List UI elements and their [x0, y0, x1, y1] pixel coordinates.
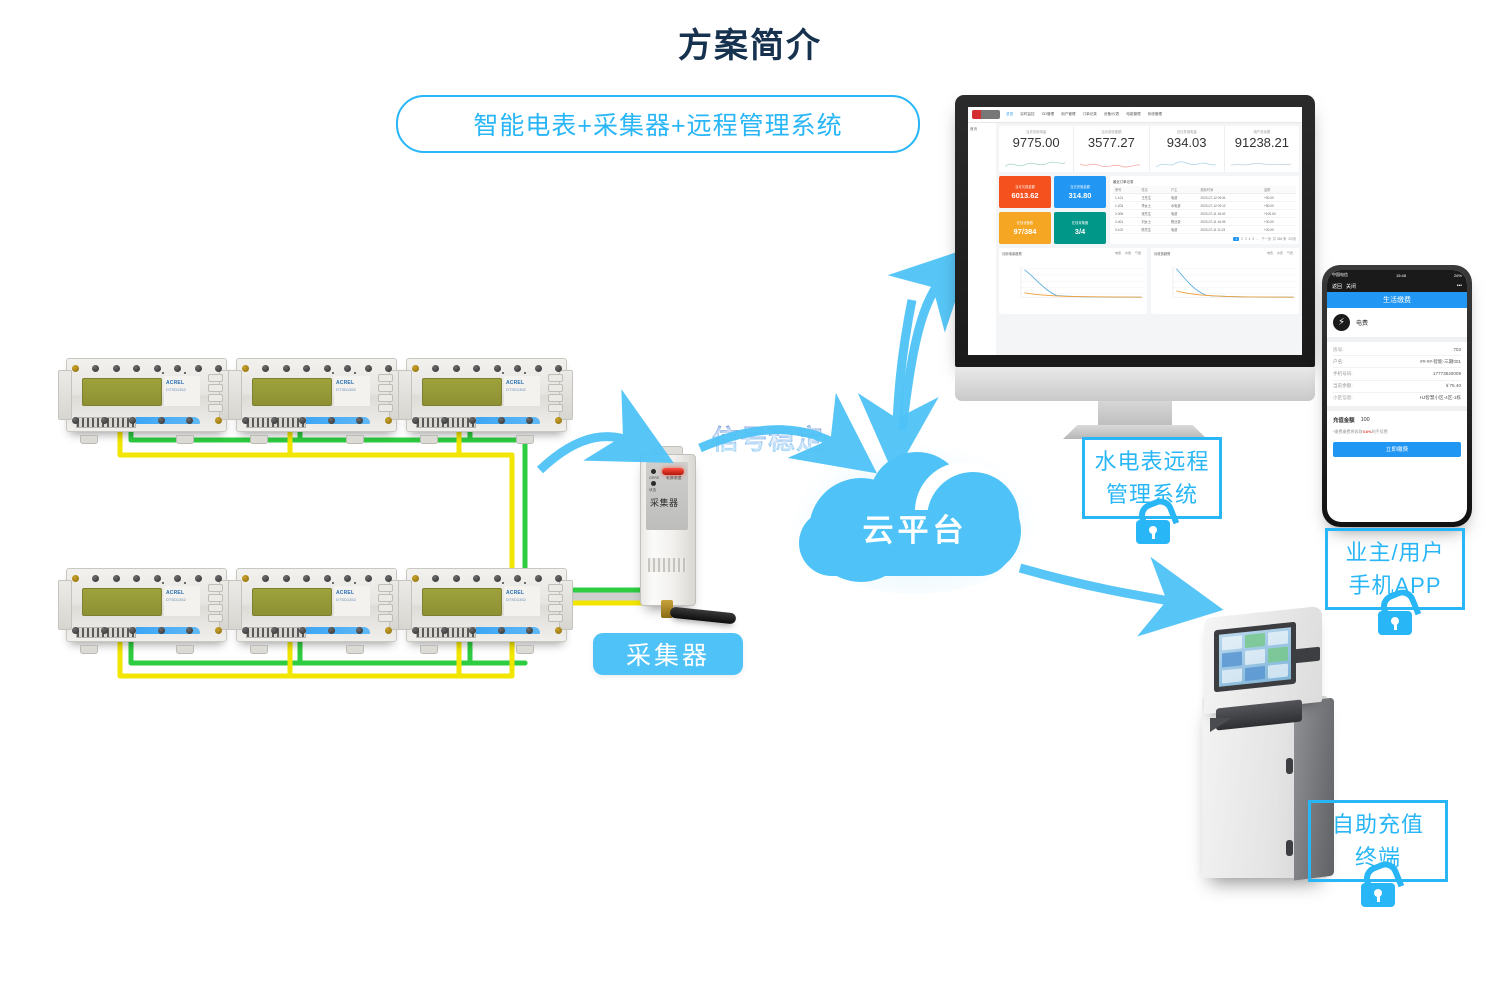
table-row[interactable]: 2-305 张先生 电费 2023-07-11 18:42 +100.00	[1113, 210, 1296, 218]
mobile-phone: 中国电信 15:48 26% 返回 关闭 ••• 生活缴费 ⚡ 电费 房号: 7…	[1322, 265, 1472, 527]
callout-line-1: 水电表远程	[1094, 445, 1209, 478]
callout-line-1: 自助充值	[1332, 808, 1424, 841]
cell: 2023-07-11 18:42	[1198, 210, 1261, 218]
cell: 电费	[1169, 210, 1199, 218]
info-row: 当前余额: ￥75.40	[1333, 381, 1461, 393]
amount-label: 充值金额	[1333, 416, 1355, 424]
tile-value: 6013.62	[1011, 191, 1038, 200]
phone-screen: 中国电信 15:48 26% 返回 关闭 ••• 生活缴费 ⚡ 电费 房号: 7…	[1327, 270, 1467, 522]
stat-tiles: 当月欠费金额 6013.62 当日充值金额 314.80 在线设备数 97/38…	[999, 176, 1107, 244]
kpi-value: 3577.27	[1088, 135, 1135, 150]
info-value: ##-##-智能-三期001	[1420, 359, 1461, 365]
nav-item[interactable]: 用户管理	[1061, 112, 1075, 117]
page-link[interactable]: 4	[1249, 237, 1251, 241]
legend-entry: 电费	[1267, 251, 1273, 255]
cell: +80.00	[1262, 202, 1296, 210]
info-row: 小区信息: HJ智慧小区-4区-1栋	[1333, 393, 1461, 404]
kiosk-handle	[1286, 758, 1293, 774]
smart-meter: ACREL DTSD1352	[58, 348, 233, 440]
cell: 2-305	[1113, 210, 1139, 218]
close-button[interactable]: 关闭	[1346, 283, 1356, 290]
table-row[interactable]: 3-102 陈先生 电费 2023-07-11 11:23 +20.00	[1113, 226, 1296, 234]
collector-label-pill: 采集器	[593, 633, 743, 675]
kpi-card: 当月总用电量 9775.00	[999, 126, 1074, 172]
kpi-value: 9775.00	[1013, 135, 1060, 150]
tile-label: 当日充值金额	[1070, 184, 1090, 189]
back-button[interactable]: 返回	[1332, 283, 1342, 290]
page-link[interactable]: 3	[1245, 237, 1247, 241]
account-info-list: 房号: 703 户名: ##-##-智能-三期001 手机号码: 1777384…	[1327, 342, 1467, 411]
info-label: 当前余额:	[1333, 383, 1353, 389]
cell: 陈先生	[1139, 226, 1169, 234]
stat-tile[interactable]: 当日充值金额 314.80	[1054, 176, 1106, 208]
info-value: 17773840009	[1433, 371, 1461, 377]
table-column-header: 姓名	[1139, 186, 1169, 194]
info-label: 手机号码:	[1333, 371, 1353, 377]
fee-note: *缴费缴费将收取0.6%的手续费	[1327, 429, 1467, 440]
cell: 1-203	[1113, 202, 1139, 210]
brand-logo-icon	[972, 110, 1000, 119]
meter-brand: ACREL	[336, 380, 354, 386]
table-header-row: 房号 姓名 户主 缴费时间 金额	[1113, 186, 1296, 194]
revenue-chart: 月收费趋势 电费 水费 气费	[1151, 248, 1299, 314]
kpi-value: 91238.21	[1235, 135, 1289, 150]
info-row: 户名: ##-##-智能-三期001	[1333, 356, 1461, 368]
cell: +30.00	[1262, 218, 1296, 226]
meter-brand: ACREL	[506, 590, 524, 596]
legend-entry: 气量	[1135, 251, 1141, 255]
pay-now-button[interactable]: 立即缴费	[1333, 442, 1461, 457]
subtitle-pill: 智能电表+采集器+远程管理系统	[396, 95, 920, 153]
desktop-monitor: 总览 实时监控 OD管理 用户管理 订单记录 设备/仪表 电能管理 系统管理 首…	[955, 95, 1315, 395]
collector-mini-label-3: 状态	[649, 488, 656, 493]
page-size[interactable]: 20/页	[1288, 236, 1296, 241]
phone-status-bar: 中国电信 15:48 26%	[1327, 270, 1467, 280]
orders-table: 最近订单记录 房号 姓名 户主 缴费时间 金额	[1110, 176, 1299, 244]
nav-item[interactable]: 订单记录	[1083, 112, 1097, 117]
stat-tile[interactable]: 在线采集器 3/4	[1054, 212, 1106, 244]
cell: 水电费	[1169, 202, 1199, 210]
table-row[interactable]: 1-203 李女士 水电费 2023-07-12 09:12 +80.00	[1113, 202, 1296, 210]
table-title: 最近订单记录	[1113, 179, 1296, 184]
callout-line-1: 业主/用户	[1345, 536, 1444, 569]
table-column-header: 户主	[1169, 186, 1199, 194]
sparkline	[1231, 158, 1291, 170]
nav-item[interactable]: 电能管理	[1126, 112, 1140, 117]
stat-tile[interactable]: 当月欠费金额 6013.62	[999, 176, 1051, 208]
collector-status-dot	[651, 481, 656, 486]
meter-model: DTSD1352	[166, 597, 186, 602]
meter-brand: ACREL	[506, 380, 524, 386]
cell: 电费	[1169, 194, 1199, 202]
diagram-canvas: ACREL DTSD1352 ACREL DTSD1352 ACREL DTSD…	[0, 0, 1500, 1000]
info-value: HJ智慧小区-4区-1栋	[1420, 395, 1461, 401]
unlock-icon	[1130, 500, 1176, 544]
nav-item[interactable]: 实时监控	[1020, 112, 1034, 117]
sparkline	[1005, 158, 1065, 170]
page-link[interactable]: 2	[1241, 237, 1243, 241]
sparkline	[1156, 158, 1216, 170]
table-row[interactable]: 1-101 王先生 电费 2023-07-12 09:31 +50.00	[1113, 194, 1296, 202]
nav-item[interactable]: OD管理	[1042, 112, 1055, 117]
unlock-icon	[1372, 591, 1418, 635]
info-row: 手机号码: 17773840009	[1333, 368, 1461, 380]
battery-label: 26%	[1454, 273, 1462, 278]
cell: 张先生	[1139, 210, 1169, 218]
stat-tile[interactable]: 在线设备数 97/384	[999, 212, 1051, 244]
cell: +50.00	[1262, 194, 1296, 202]
page-next[interactable]: 下一页	[1261, 236, 1271, 241]
tile-value: 3/4	[1075, 227, 1085, 236]
meter-model: DTSD1352	[336, 597, 356, 602]
cell: 2023-07-11 11:23	[1198, 226, 1261, 234]
note-suffix: 的手续费	[1372, 429, 1388, 434]
data-collector-device: GPRS 电源/数据 状态 采集器	[640, 440, 750, 640]
smart-meter: ACREL DTSD1352	[58, 558, 233, 650]
usage-chart: 月用电量趋势 电量 水量 气量	[999, 248, 1147, 314]
card-slot	[1294, 647, 1320, 664]
tile-label: 在线采集器	[1072, 220, 1088, 225]
chart-plot	[1157, 262, 1299, 304]
tile-label: 在线设备数	[1017, 220, 1033, 225]
info-value: ￥75.40	[1445, 383, 1461, 389]
collector-mini-label-2: 电源/数据	[666, 476, 681, 481]
nav-item[interactable]: 系统管理	[1148, 112, 1162, 117]
kpi-value: 934.03	[1167, 135, 1207, 150]
smart-meter: ACREL DTSD1352	[228, 558, 403, 650]
cell: 2-401	[1113, 218, 1139, 226]
cell: 2023-07-11 16:05	[1198, 218, 1261, 226]
bolt-icon: ⚡	[1333, 314, 1350, 331]
kpi-label: 当月总用电量	[1026, 129, 1046, 134]
smart-meter: ACREL DTSD1352	[398, 348, 573, 440]
dashboard-navbar: 总览 实时监控 OD管理 用户管理 订单记录 设备/仪表 电能管理 系统管理	[968, 107, 1302, 123]
note-prefix: *缴费缴费将收取	[1333, 429, 1363, 434]
clock-label: 15:48	[1396, 273, 1406, 278]
kpi-card: 用户总余额 91238.21	[1225, 126, 1299, 172]
info-row: 房号: 703	[1333, 344, 1461, 356]
meter-model: DTSD1352	[166, 387, 186, 392]
app-page-title: 生活缴费	[1327, 292, 1467, 308]
tile-value: 314.80	[1069, 191, 1092, 200]
nav-item[interactable]: 总览	[1006, 112, 1013, 117]
page-current[interactable]: 1	[1233, 237, 1239, 241]
cell: 2023-07-12 09:12	[1198, 202, 1261, 210]
cell: 物业费	[1169, 218, 1199, 226]
cell: +20.00	[1262, 226, 1296, 234]
kpi-label: 当日总用电量	[1176, 129, 1196, 134]
smart-meter: ACREL DTSD1352	[398, 558, 573, 650]
more-icon[interactable]: •••	[1457, 283, 1462, 289]
table-column-header: 房号	[1113, 186, 1139, 194]
kpi-label: 用户总余额	[1253, 129, 1270, 134]
monitor-screen: 总览 实时监控 OD管理 用户管理 订单记录 设备/仪表 电能管理 系统管理 首…	[968, 107, 1302, 355]
unlock-icon	[1355, 863, 1401, 907]
cell: 1-101	[1113, 194, 1139, 202]
cell: 2023-07-12 09:31	[1198, 194, 1261, 202]
cell: 李女士	[1139, 202, 1169, 210]
cell: 刘女士	[1139, 218, 1169, 226]
page-title: 方案简介	[0, 18, 1500, 67]
collector-mini-label-1: GPRS	[649, 476, 659, 480]
legend-entry: 水量	[1125, 251, 1131, 255]
kiosk-handle	[1286, 840, 1293, 856]
info-label: 房号:	[1333, 347, 1343, 353]
carrier-label: 中国电信	[1332, 272, 1348, 278]
kpi-card: 当日总用电量 934.03	[1150, 126, 1225, 172]
utility-card[interactable]: ⚡ 电费	[1327, 308, 1467, 342]
amount-value: 100	[1361, 417, 1370, 423]
tile-label: 当月欠费金额	[1015, 184, 1035, 189]
legend-entry: 水费	[1277, 251, 1283, 255]
table-column-header: 金额	[1262, 186, 1296, 194]
info-value: 703	[1453, 347, 1461, 353]
info-label: 户名:	[1333, 359, 1343, 365]
table-row[interactable]: 2-401 刘女士 物业费 2023-07-11 16:05 +30.00	[1113, 218, 1296, 226]
sparkline	[1080, 158, 1140, 170]
meter-brand: ACREL	[166, 590, 184, 596]
smart-meter: ACREL DTSD1352	[228, 348, 403, 440]
meter-brand: ACREL	[166, 380, 184, 386]
info-label: 小区信息:	[1333, 395, 1353, 401]
cell: 王先生	[1139, 194, 1169, 202]
kpi-row: 当月总用电量 9775.00 当月总收费额 3577.27 当日总用电量 934…	[999, 126, 1299, 172]
cloud-platform-label: 云平台	[795, 505, 1035, 550]
page-ellipsis: …	[1256, 237, 1259, 241]
cell: 3-102	[1113, 226, 1139, 234]
kiosk-touchscreen[interactable]	[1214, 622, 1296, 693]
cell: 电费	[1169, 226, 1199, 234]
cell: +100.00	[1262, 210, 1296, 218]
kpi-label: 当月总收费额	[1101, 129, 1121, 134]
meter-brand: ACREL	[336, 590, 354, 596]
antenna-icon	[670, 607, 737, 625]
page-link[interactable]: 5	[1252, 237, 1254, 241]
phone-nav-bar: 返回 关闭 •••	[1327, 280, 1467, 292]
recharge-amount-field[interactable]: 充值金额 100	[1327, 411, 1467, 429]
legend-entry: 气费	[1287, 251, 1293, 255]
nav-item[interactable]: 设备/仪表	[1104, 112, 1119, 117]
collector-led-indicator	[662, 468, 684, 475]
tile-value: 97/384	[1014, 227, 1037, 236]
kpi-card: 当月总收费额 3577.27	[1074, 126, 1149, 172]
chart-plot	[1005, 262, 1147, 304]
meter-model: DTSD1352	[506, 387, 526, 392]
dashboard-sidebar[interactable]: 首页	[968, 123, 996, 355]
note-rate: 0.6%	[1363, 429, 1372, 434]
utility-name: 电费	[1356, 318, 1368, 327]
meter-model: DTSD1352	[336, 387, 356, 392]
collector-device-text: 采集器	[650, 496, 679, 509]
legend-entry: 电量	[1115, 251, 1121, 255]
table-column-header: 缴费时间	[1198, 186, 1261, 194]
collector-status-dot	[651, 469, 656, 474]
meter-model: DTSD1352	[506, 597, 526, 602]
table-pagination[interactable]: 1 2 3 4 5 … 下一页 共 384 条 20/页	[1113, 236, 1296, 241]
page-total: 共 384 条	[1273, 236, 1286, 241]
